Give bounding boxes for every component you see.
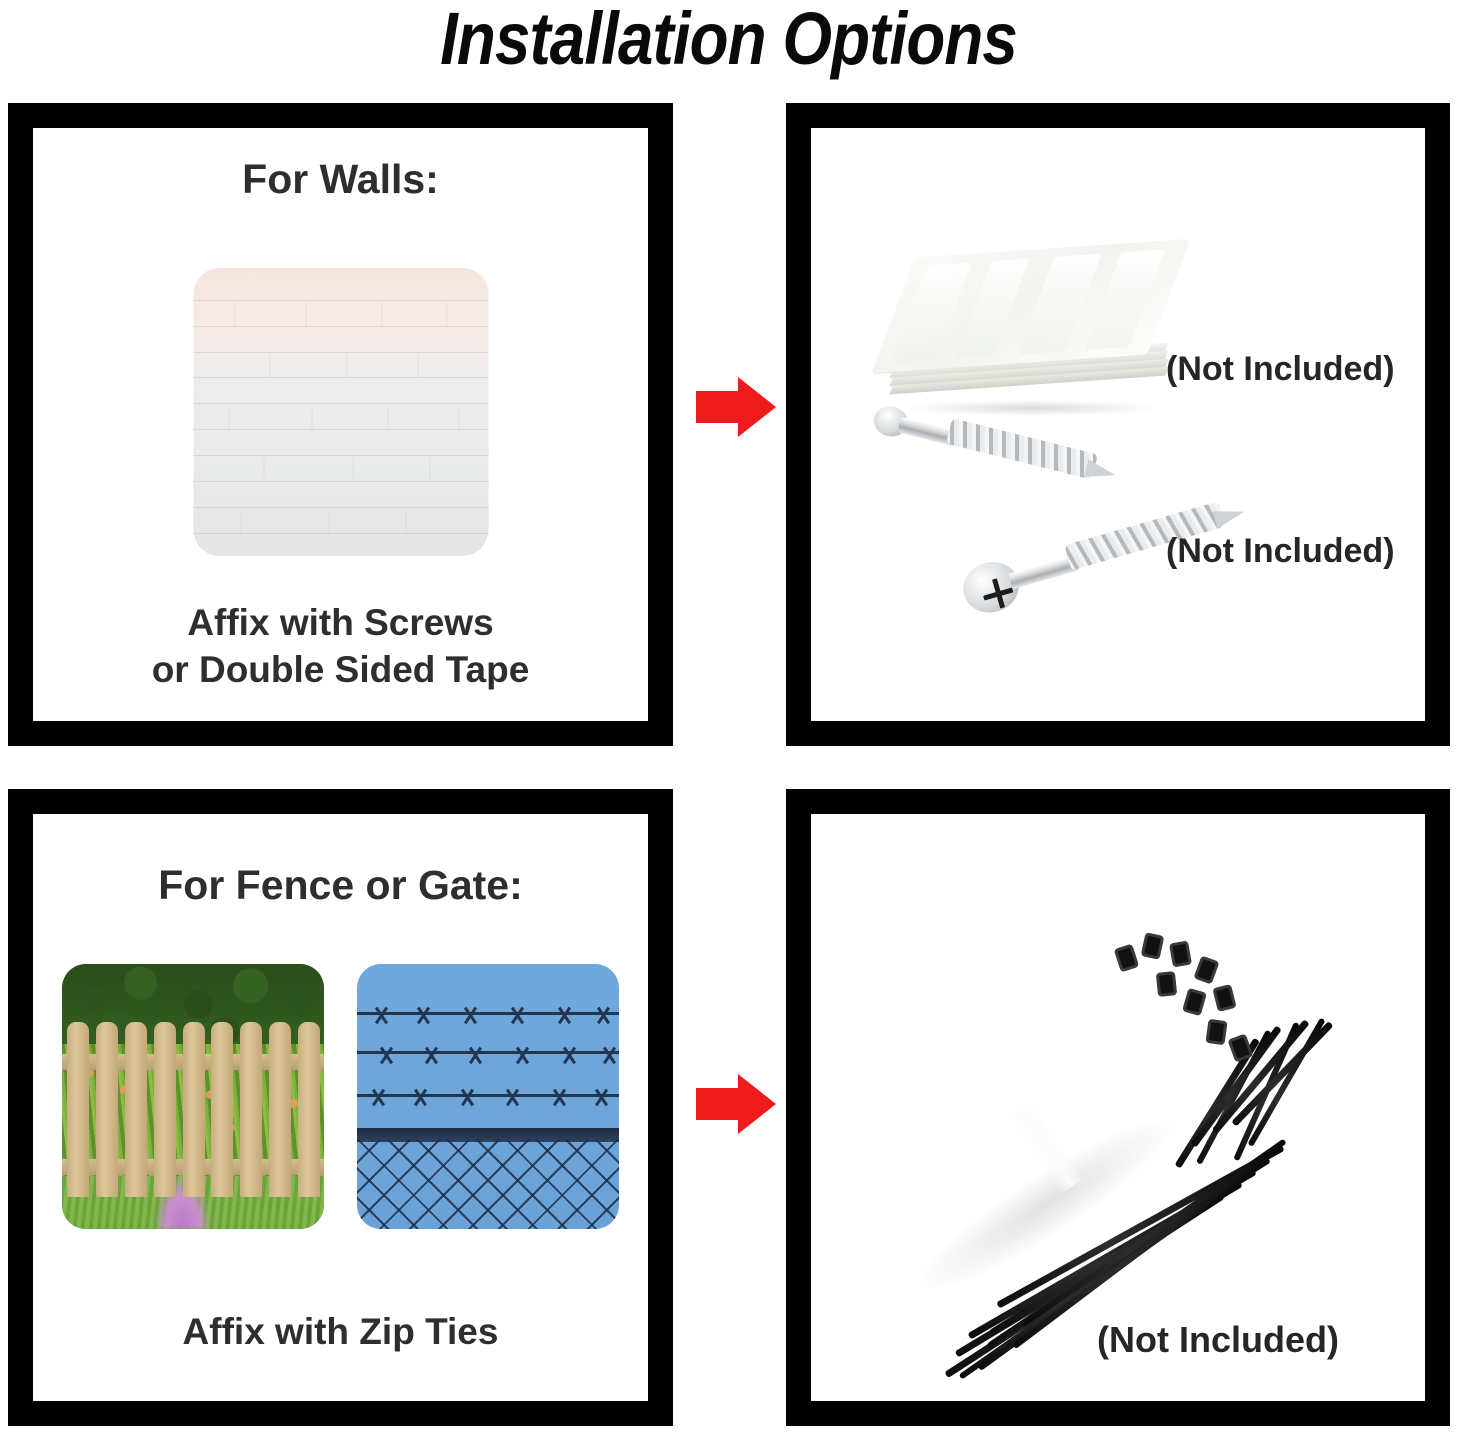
panel-wall-hardware: (Not Included) (Not Included) <box>786 103 1450 746</box>
page-title: Installation Options <box>102 0 1355 81</box>
wood-screw-image-lower <box>966 496 1276 656</box>
for-walls-caption: Affix with Screws or Double Sided Tape <box>33 599 648 693</box>
screws-not-included-label: (Not Included) <box>1166 532 1395 571</box>
for-walls-heading: For Walls: <box>33 156 648 203</box>
red-right-arrow-icon-walls <box>696 377 776 437</box>
red-right-arrow-icon-fence <box>696 1074 776 1134</box>
zip-ties-not-included-label: (Not Included) <box>1097 1319 1339 1361</box>
for-fence-caption: Affix with Zip Ties <box>33 1308 648 1355</box>
panel-for-fence-or-gate: For Fence or Gate: <box>8 789 673 1426</box>
white-brick-wall-image <box>193 268 488 556</box>
wooden-picket-fence-image <box>62 964 324 1229</box>
wood-screw-image-upper <box>864 406 1133 537</box>
panel-fence-hardware: (Not Included) <box>786 789 1450 1426</box>
for-walls-caption-line2: or Double Sided Tape <box>33 646 648 693</box>
for-walls-caption-line1: Affix with Screws <box>33 599 648 646</box>
chain-link-barbed-wire-fence-image <box>357 964 619 1229</box>
black-zip-ties-bundle-image <box>871 924 1301 1284</box>
for-fence-caption-line1: Affix with Zip Ties <box>33 1308 648 1355</box>
for-fence-or-gate-heading: For Fence or Gate: <box>33 862 648 909</box>
tape-not-included-label: (Not Included) <box>1166 350 1395 389</box>
double-sided-tape-stack-image <box>881 248 1181 418</box>
panel-for-walls: For Walls: Affix with Screws or Double S… <box>8 103 673 746</box>
